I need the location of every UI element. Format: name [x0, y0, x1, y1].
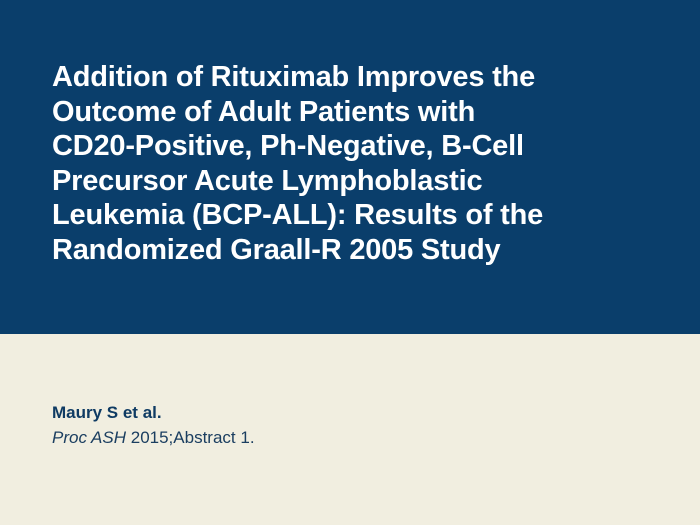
citation-source: Proc ASH 2015;Abstract 1.	[52, 425, 652, 450]
title-line-5: Leukemia (BCP-ALL): Results of the	[52, 198, 670, 233]
citation-journal: Proc ASH	[52, 428, 126, 447]
title-line-2: Outcome of Adult Patients with	[52, 95, 670, 130]
title-line-1: Addition of Rituximab Improves the	[52, 60, 670, 95]
citation-authors: Maury S et al.	[52, 400, 652, 425]
title-line-4: Precursor Acute Lymphoblastic	[52, 164, 670, 199]
citation-reference: 2015;Abstract 1.	[126, 428, 255, 447]
title-banner: Addition of Rituximab Improves the Outco…	[0, 0, 700, 334]
slide-citation: Maury S et al. Proc ASH 2015;Abstract 1.	[52, 400, 652, 450]
title-line-3: CD20-Positive, Ph-Negative, B-Cell	[52, 129, 670, 164]
presentation-slide: Addition of Rituximab Improves the Outco…	[0, 0, 700, 525]
slide-title: Addition of Rituximab Improves the Outco…	[52, 60, 670, 267]
title-line-6: Randomized Graall-R 2005 Study	[52, 233, 670, 268]
